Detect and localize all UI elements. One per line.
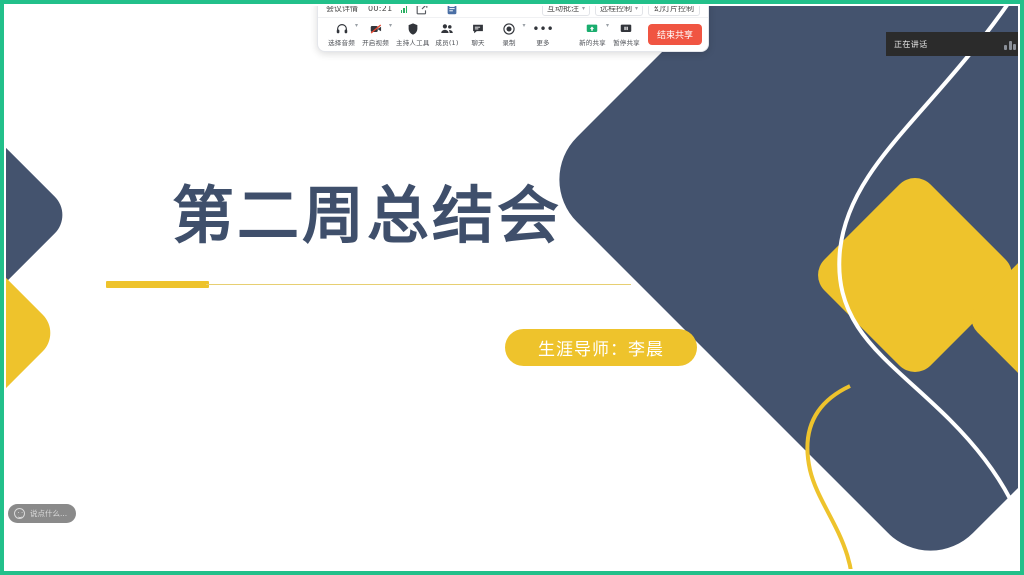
more-button[interactable]: ••• 更多 [528,22,559,47]
document-icon[interactable] [445,2,459,16]
toolbar-actions: 选择音频 ▾ 开启视频 ▾ 主持人工具 [318,18,708,51]
annotation-dropdown[interactable]: 互动批注 ▾ [542,1,590,16]
record-button[interactable]: 录制 [494,22,525,47]
host-tools-button[interactable]: 主持人工具 [394,22,432,47]
remote-control-dropdown[interactable]: 远程控制 ▾ [595,1,643,16]
smiley-icon[interactable] [14,508,25,519]
slide-divider [106,281,631,288]
presenter-badge: 生涯导师：李晨 [505,329,697,366]
chat-icon [471,22,485,36]
chat-button[interactable]: 聊天 [463,22,494,47]
chevron-down-icon: ▾ [582,5,585,12]
video-off-icon [369,22,383,36]
more-label: 更多 [536,37,549,47]
video-label: 开启视频 [362,37,389,47]
shield-icon [406,22,420,36]
slide-control-button[interactable]: 幻灯片控制 [648,1,700,16]
record-icon [502,22,516,36]
host-tools-label: 主持人工具 [396,37,430,47]
new-share-label: 新的共享 [579,37,606,47]
more-dots-icon: ••• [532,22,553,36]
meeting-details-button[interactable]: 会议详情 [326,3,358,14]
pause-share-button[interactable]: 暂停共享 [611,22,642,47]
participants-button[interactable]: 成员(1) [432,22,463,47]
pause-share-icon [619,22,633,36]
participants-icon [440,22,454,36]
audio-label: 选择音频 [328,37,355,47]
meeting-details-label: 会议详情 [326,3,358,14]
audio-button[interactable]: 选择音频 [326,22,357,47]
video-button[interactable]: 开启视频 [360,22,391,47]
new-share-button[interactable]: 新的共享 [577,22,608,47]
participants-label: 成员(1) [435,37,458,47]
new-share-icon [585,22,599,36]
divider-thick-segment [106,281,209,288]
annotation-label: 互动批注 [547,3,579,14]
toolbar-info-strip: 会议详情 00:21 互动批注 ▾ 远程控制 ▾ [318,0,708,18]
record-label: 录制 [502,37,515,47]
shared-slide-canvas: 第二周总结会 生涯导师：李晨 [0,0,1024,575]
slide-title: 第二周总结会 [172,182,562,250]
speaking-label: 正在讲话 [894,39,928,50]
meeting-toolbar[interactable]: 会议详情 00:21 互动批注 ▾ 远程控制 ▾ [317,0,709,52]
remote-control-label: 远程控制 [600,3,632,14]
chat-label: 聊天 [471,37,484,47]
headset-icon [335,22,349,36]
audio-wave-icon [1004,38,1016,50]
chevron-down-icon: ▾ [635,5,638,12]
decorative-curves [700,0,1024,575]
pause-share-label: 暂停共享 [613,37,640,47]
speaking-indicator-panel[interactable]: 正在讲话 [886,32,1024,56]
comment-placeholder: 说点什么... [30,508,67,519]
divider-thin-segment [206,284,631,285]
meeting-timer: 00:21 [368,4,393,13]
end-share-button[interactable]: 结束共享 [648,24,702,45]
slide-control-label: 幻灯片控制 [654,3,694,14]
popout-window-icon[interactable] [415,2,429,16]
comment-input-bar[interactable]: 说点什么... [8,504,76,523]
signal-bars-icon [401,5,408,13]
